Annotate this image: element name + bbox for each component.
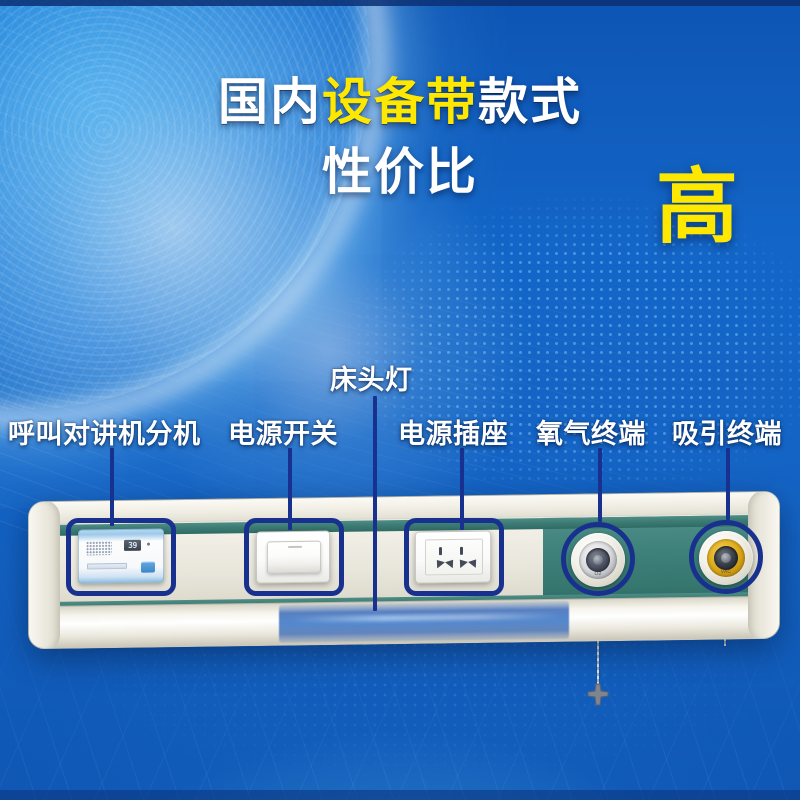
socket-hole-angled-3 (456, 557, 468, 569)
callout-label-power-socket: 电源插座 (398, 412, 508, 451)
rocker-paddle[interactable] (267, 541, 321, 574)
callout-label-power-switch: 电源开关 (228, 412, 338, 451)
intercom-call-button[interactable] (141, 562, 155, 573)
nurse-call-intercom-unit[interactable]: 39 (78, 528, 164, 583)
headline-accent-gao: 高 (656, 140, 738, 259)
headline-seg-2: 设备带 (322, 74, 478, 130)
callout-label-oxygen-terminal: 氧气终端 (536, 412, 646, 451)
power-socket-unit[interactable] (415, 530, 491, 583)
socket-hole-vertical-right (460, 547, 463, 555)
leader-line-power-switch (288, 448, 292, 530)
callout-label-suction-terminal: 吸引终端 (672, 412, 782, 451)
bottom-edge-band (0, 790, 800, 800)
panel-end-cap-left (28, 500, 60, 649)
intercom-label-slot (87, 563, 127, 570)
panel-end-cap-right (748, 491, 780, 642)
intercom-display: 39 (124, 540, 141, 551)
callout-label-intercom: 呼叫对讲机分机 (8, 412, 201, 451)
speaker-grille-icon (86, 541, 112, 555)
headline-line-1: 国内设备带款式 (0, 76, 800, 129)
socket-hole-angled-1 (433, 557, 445, 569)
leader-line-bed-lamp (373, 396, 377, 611)
socket-hole-vertical-left (439, 547, 442, 555)
headline-seg-4: 性价比 (322, 144, 478, 200)
leader-line-suction-terminal (726, 448, 730, 520)
leader-line-power-socket (460, 448, 464, 530)
status-led-icon (147, 543, 150, 546)
headline-seg-3: 款式 (478, 74, 582, 130)
socket-hole-angled-4 (468, 556, 480, 568)
leader-line-intercom (110, 448, 114, 526)
switch-indicator-mark (288, 546, 302, 548)
socket-face (425, 539, 483, 576)
headline-seg-1: 国内 (218, 74, 322, 130)
hose-connector-cross-icon (585, 682, 611, 708)
product-banner: 国内设备带款式 性价比 高 呼叫对讲机分机 电源开关 床头灯 电源插座 氧气终端… (0, 0, 800, 800)
callout-label-bed-lamp: 床头灯 (330, 358, 413, 397)
top-edge-band (0, 0, 800, 6)
power-switch-unit[interactable] (256, 530, 330, 583)
leader-line-oxygen-terminal (598, 448, 602, 522)
